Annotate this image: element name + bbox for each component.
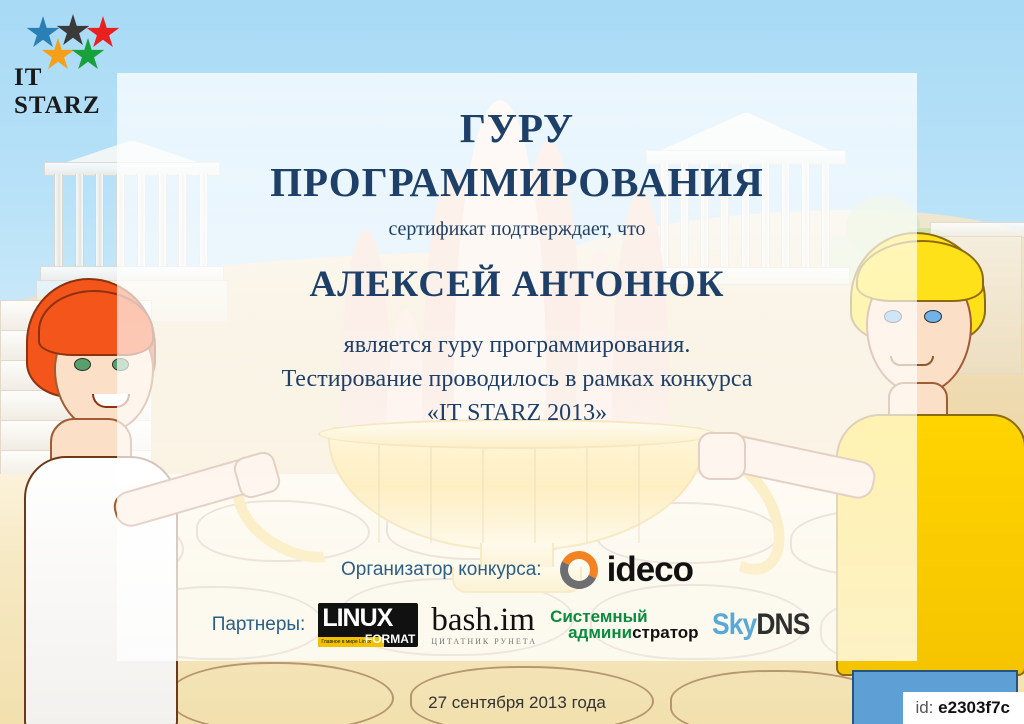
certificate-canvas: IT STARZ ГУРУ ПРОГРАММИРОВАНИЯ сертифика… (0, 0, 1024, 724)
certificate-content: ГУРУ ПРОГРАММИРОВАНИЯ сертификат подтвер… (117, 73, 917, 661)
bashim-tagline: ЦИТАТНИК РУНЕТА (431, 638, 537, 646)
eye-right (924, 310, 942, 323)
id-label: id: (915, 698, 933, 717)
eye-left (74, 358, 91, 371)
certificate-id-badge: id: e2303f7c (903, 692, 1024, 724)
skydns-logo: SkyDNS (712, 608, 809, 642)
body-line-3: «IT STARZ 2013» (117, 396, 917, 430)
partners-row: Партнеры: LINUX Главное в мире Linux FOR… (117, 603, 917, 647)
skydns-dns: DNS (756, 608, 809, 641)
sysadmin-line2: администратор (550, 625, 699, 641)
certificate-title: ГУРУ ПРОГРАММИРОВАНИЯ (117, 101, 917, 209)
certificate-body: является гуру программирования. Тестиров… (117, 328, 917, 430)
sysadmin-line2-green: админи (568, 623, 632, 642)
ideco-wordmark: ideco (607, 550, 693, 590)
star-icon (26, 16, 60, 50)
star-icon (56, 14, 90, 48)
ideco-logo: ideco (560, 550, 693, 590)
body-line-2: Тестирование проводилось в рамках конкур… (117, 362, 917, 396)
linux-format-tagline: Главное в мире Linux (321, 639, 371, 645)
organizer-row: Организатор конкурса: ideco (117, 550, 917, 590)
star-icon (86, 16, 120, 50)
partners-label: Партнеры: (212, 614, 306, 636)
title-line-1: ГУРУ (117, 101, 917, 155)
ideco-swoosh-icon (560, 551, 598, 589)
brand-logo: IT STARZ (14, 14, 124, 92)
brand-name: IT STARZ (14, 64, 124, 120)
sysadmin-line2-black: стратор (632, 623, 699, 642)
id-value: e2303f7c (938, 698, 1010, 717)
linux-format-line2: FORMAT (365, 632, 415, 646)
linux-format-logo: LINUX Главное в мире Linux FORMAT (318, 603, 418, 647)
bashim-logo: bash.im ЦИТАТНИК РУНЕТА (431, 604, 537, 646)
skydns-sky: Sky (712, 608, 756, 641)
body-line-1: является гуру программирования. (117, 328, 917, 362)
issue-date: 27 сентября 2013 года (117, 693, 917, 713)
linux-format-line1: LINUX (322, 604, 392, 633)
organizer-label: Организатор конкурса: (341, 559, 542, 581)
title-line-2: ПРОГРАММИРОВАНИЯ (117, 155, 917, 209)
certificate-subtitle: сертификат подтверждает, что (117, 218, 917, 241)
bashim-wordmark: bash.im (431, 604, 537, 637)
sysadmin-logo: Системный администратор (550, 609, 699, 642)
recipient-name: АЛЕКСЕЙ АНТОНЮК (117, 263, 917, 306)
